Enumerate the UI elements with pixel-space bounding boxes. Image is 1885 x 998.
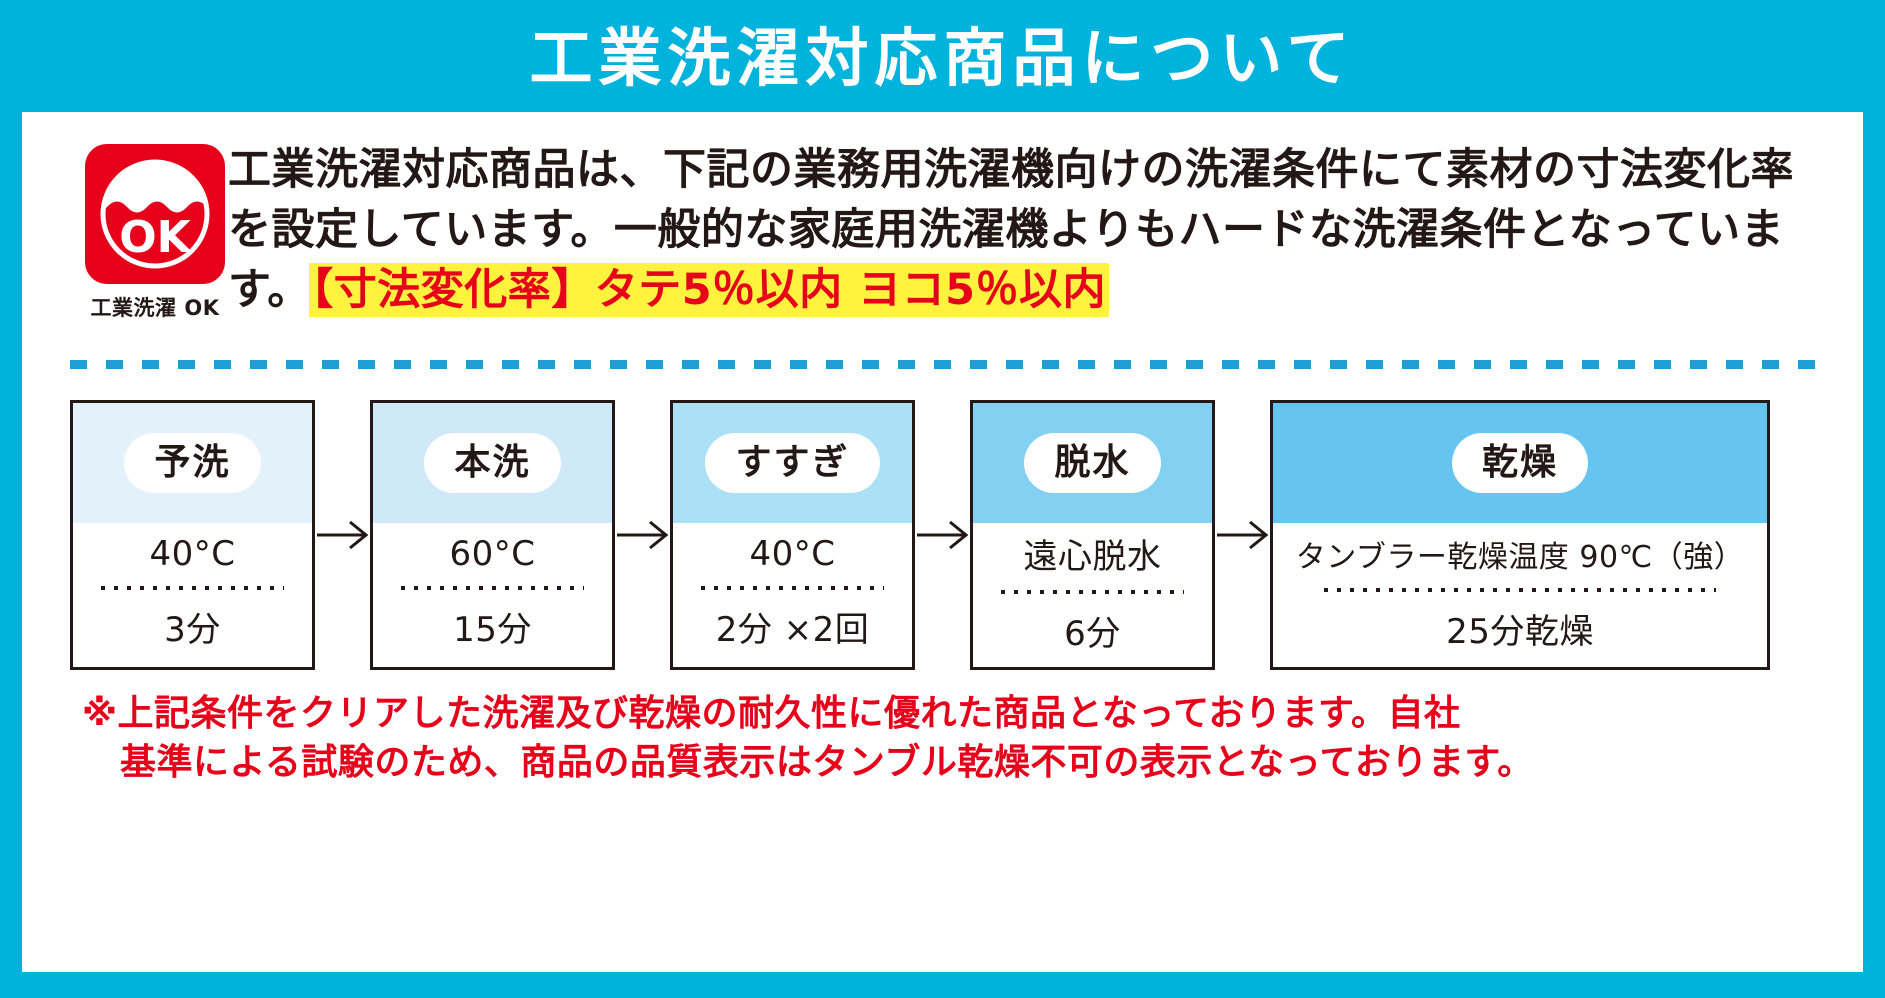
- arrow-right-icon: [915, 400, 970, 670]
- laundry-ok-icon: OK: [85, 144, 225, 284]
- poster-root: 工業洗濯対応商品について: [0, 0, 1885, 998]
- step-header: 乾燥: [1273, 403, 1767, 523]
- step-temperature: 40°C: [149, 534, 235, 574]
- step-body: 40°C 3分: [73, 523, 312, 667]
- step-dotted-separator: [1324, 588, 1716, 592]
- arrow-right-icon: [615, 400, 670, 670]
- dimension-change-highlight: 【寸法変化率】タテ5％以内 ヨコ5％以内: [311, 265, 1107, 315]
- process-step: 乾燥 タンブラー乾燥温度 90℃（強） 25分乾燥: [1270, 400, 1770, 670]
- step-temperature: 遠心脱水: [1024, 529, 1162, 578]
- svg-text:OK: OK: [119, 212, 192, 263]
- step-dotted-separator: [401, 586, 584, 590]
- header-band: 工業洗濯対応商品について: [0, 0, 1885, 116]
- step-temperature: 60°C: [449, 534, 535, 574]
- intro-section: OK 工業洗濯 OK 工業洗濯対応商品は、下記の業務用洗濯機向けの洗濯条件にて素…: [22, 112, 1863, 364]
- section-divider: [70, 360, 1820, 369]
- step-body: 遠心脱水 6分: [973, 523, 1212, 667]
- step-body: タンブラー乾燥温度 90℃（強） 25分乾燥: [1273, 523, 1767, 667]
- step-header: 脱水: [973, 403, 1212, 523]
- process-step: 予洗 40°C 3分: [70, 400, 315, 670]
- process-step: 脱水 遠心脱水 6分: [970, 400, 1215, 670]
- page-title: 工業洗濯対応商品について: [529, 27, 1355, 90]
- footnote-line-1: ※上記条件をクリアした洗濯及び乾燥の耐久性に優れた商品となっております。自社: [82, 693, 1460, 734]
- step-duration: 2分 ×2回: [716, 602, 870, 651]
- step-label: 脱水: [1024, 433, 1160, 492]
- step-label: すすぎ: [705, 433, 879, 492]
- step-label: 乾燥: [1452, 433, 1588, 492]
- step-duration: 15分: [453, 602, 532, 651]
- step-duration: 3分: [164, 602, 221, 651]
- step-temperature: 40°C: [749, 534, 835, 574]
- step-body: 40°C 2分 ×2回: [673, 523, 912, 667]
- step-label: 本洗: [424, 433, 560, 492]
- content-card: OK 工業洗濯 OK 工業洗濯対応商品は、下記の業務用洗濯機向けの洗濯条件にて素…: [22, 112, 1863, 972]
- intro-paragraph: 工業洗濯対応商品は、下記の業務用洗濯機向けの洗濯条件にて素材の寸法変化率を設定し…: [228, 140, 1828, 321]
- wash-process-flow: 予洗 40°C 3分 本洗 60°C: [70, 400, 1820, 670]
- process-step: すすぎ 40°C 2分 ×2回: [670, 400, 915, 670]
- footnote-line-2: 基準による試験のため、商品の品質表示はタンブル乾燥不可の表示となっております。: [82, 739, 1812, 788]
- step-body: 60°C 15分: [373, 523, 612, 667]
- step-duration: 25分乾燥: [1446, 604, 1594, 653]
- step-duration: 6分: [1064, 606, 1121, 655]
- arrow-right-icon: [1215, 400, 1270, 670]
- step-header: 予洗: [73, 403, 312, 523]
- laundry-ok-badge: OK 工業洗濯 OK: [70, 144, 240, 322]
- step-label: 予洗: [124, 433, 260, 492]
- process-step: 本洗 60°C 15分: [370, 400, 615, 670]
- arrow-right-icon: [315, 400, 370, 670]
- step-header: すすぎ: [673, 403, 912, 523]
- footnote: ※上記条件をクリアした洗濯及び乾燥の耐久性に優れた商品となっております。自社 基…: [82, 690, 1812, 787]
- step-dotted-separator: [101, 586, 284, 590]
- step-temperature: タンブラー乾燥温度 90℃（強）: [1296, 532, 1745, 576]
- step-dotted-separator: [701, 586, 884, 590]
- logo-caption: 工業洗濯 OK: [70, 292, 240, 322]
- step-header: 本洗: [373, 403, 612, 523]
- step-dotted-separator: [1001, 590, 1184, 594]
